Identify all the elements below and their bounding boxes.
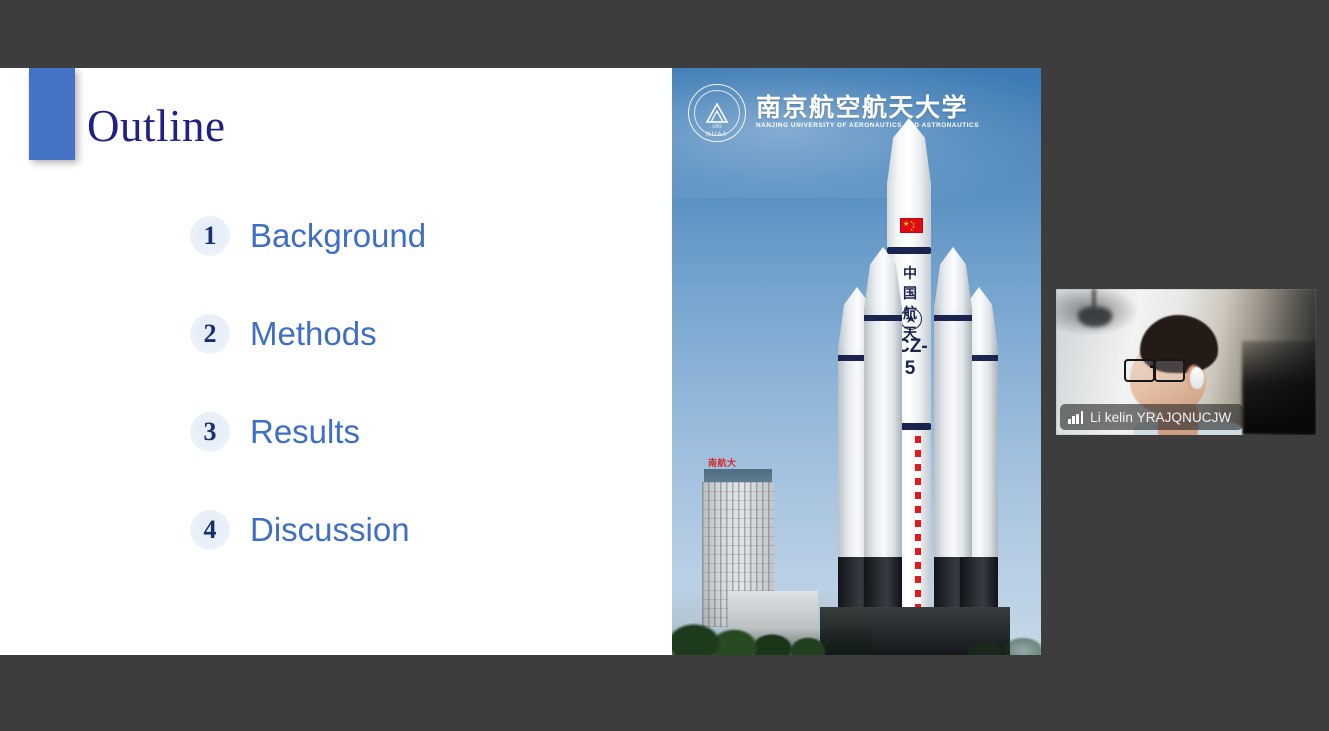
participant-name: Li kelin YRAJQNUCJW [1090, 410, 1231, 425]
casc-glyph [905, 313, 917, 325]
glasses-lens-left [1124, 359, 1155, 382]
signal-bars-icon [1068, 411, 1083, 424]
lamp-stem [1092, 289, 1096, 309]
seal-glyph: 1952 NUAA [689, 85, 745, 141]
university-seal-icon: 1952 NUAA [688, 84, 746, 142]
item-number-badge: 3 [190, 412, 230, 452]
outline-list: 1 Background 2 Methods 3 Results 4 [190, 216, 650, 608]
alignment-checker-stripe [915, 436, 921, 622]
university-name-block: 南京航空航天大学 NANJING UNIVERSITY OF AERONAUTI… [756, 96, 979, 129]
participant-name-badge: Li kelin YRAJQNUCJW [1060, 404, 1243, 430]
flag-star: ★ [903, 221, 909, 228]
page-title: Outline [87, 104, 225, 149]
foliage [961, 613, 1041, 655]
item-number-badge: 2 [190, 314, 230, 354]
list-item[interactable]: 3 Results [190, 412, 650, 510]
item-number: 1 [204, 223, 217, 249]
earbud-icon [1190, 367, 1204, 389]
item-label: Background [250, 215, 426, 257]
glasses-lens-right [1154, 359, 1185, 382]
item-number: 3 [204, 419, 217, 445]
item-label: Results [250, 411, 360, 453]
booster-nose-cone [934, 247, 972, 309]
casc-emblem-icon [900, 308, 922, 330]
title-accent-bar [29, 68, 75, 160]
item-label: Discussion [250, 509, 410, 551]
participant-video-tile[interactable]: Li kelin YRAJQNUCJW [1056, 289, 1316, 435]
item-number-badge: 4 [190, 510, 230, 550]
slide-photo: 南航大 [672, 68, 1041, 655]
university-name-en: NANJING UNIVERSITY OF AERONAUTICS AND AS… [756, 123, 979, 129]
building-sign: 南航大 [708, 459, 768, 469]
ceiling-lamp [1078, 307, 1112, 327]
foliage [672, 589, 872, 655]
chinese-flag-decal: ★ ★ ★ ★ ★ [900, 218, 923, 233]
presentation-slide: Outline 1 Background 2 Methods 3 Results [0, 68, 1041, 655]
svg-text:NUAA: NUAA [706, 132, 727, 138]
booster-skirt [960, 557, 998, 609]
flag-star: ★ [910, 229, 913, 232]
item-number: 4 [204, 517, 217, 543]
list-item[interactable]: 1 Background [190, 216, 650, 314]
list-item[interactable]: 2 Methods [190, 314, 650, 412]
list-item[interactable]: 4 Discussion [190, 510, 650, 608]
rocket-band [887, 247, 931, 254]
item-number-badge: 1 [190, 216, 230, 256]
booster-band [934, 315, 972, 321]
university-name-cn: 南京航空航天大学 [756, 96, 979, 121]
item-number: 2 [204, 321, 217, 347]
university-logo: 1952 NUAA 南京航空航天大学 NANJING UNIVERSITY OF… [688, 84, 979, 142]
booster-band [864, 315, 902, 321]
rocket-illustration: 南航大 [672, 68, 1041, 655]
rocket-agency-text: 中国航天 [899, 264, 921, 344]
item-label: Methods [250, 313, 377, 355]
screen-share-view: Outline 1 Background 2 Methods 3 Results [0, 0, 1329, 731]
eyeglasses [1124, 359, 1190, 379]
svg-text:1952: 1952 [712, 124, 723, 129]
